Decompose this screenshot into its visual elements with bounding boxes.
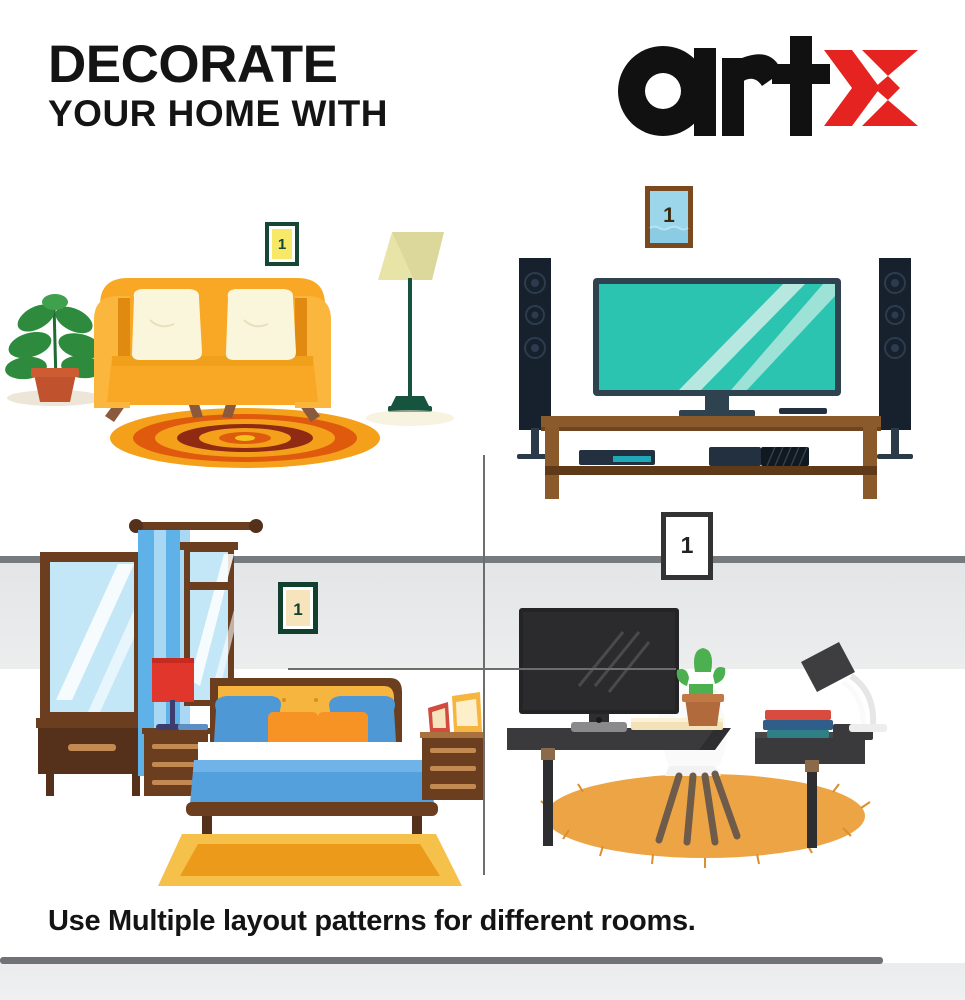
- logo-letter-t: [772, 36, 830, 136]
- living-room-illustration: 1: [0, 170, 483, 500]
- bed: [186, 678, 438, 838]
- wall-frame-living: 1: [265, 222, 299, 266]
- baseboard-bottom: [0, 957, 883, 964]
- nightstand-right: [420, 732, 483, 800]
- floor-bottom: [0, 963, 965, 1000]
- page-title: DECORATE YOUR HOME WITH: [48, 38, 388, 134]
- speaker-right: [877, 258, 913, 459]
- scene-home-office: 1: [483, 500, 965, 890]
- wall-frame-tv: 1: [645, 186, 693, 248]
- tv-stand: [541, 408, 881, 499]
- pillow-orange-right: [318, 712, 368, 746]
- floor-lamp: [366, 232, 454, 426]
- scene-bedroom: 1: [0, 500, 483, 890]
- yellow-sofa: [94, 278, 331, 422]
- wall-frame-bedroom: 1: [278, 582, 318, 634]
- header: DECORATE YOUR HOME WITH: [0, 0, 965, 170]
- potted-plant: [4, 294, 104, 406]
- tv-room-illustration: 1: [483, 170, 965, 500]
- game-console: [709, 447, 809, 466]
- logo-letter-a: [618, 46, 716, 136]
- scene-living-room: 1: [0, 170, 483, 500]
- vertical-divider-line: [483, 455, 485, 875]
- monitor: [519, 608, 679, 732]
- wall-frame-living-label: 1: [278, 236, 286, 253]
- caption-text: Use Multiple layout patterns for differe…: [48, 905, 928, 938]
- headline-line-2: YOUR HOME WITH: [48, 94, 388, 134]
- tv-screen: [593, 278, 841, 417]
- scene-grid: 1: [0, 170, 965, 890]
- poster-root: DECORATE YOUR HOME WITH: [0, 0, 965, 1000]
- wall-frame-office-label: 1: [681, 532, 694, 558]
- logo-letter-x: [824, 50, 918, 126]
- wall-frame-office: 1: [661, 512, 713, 580]
- cream-pillow-left: [132, 289, 202, 360]
- home-office-illustration: 1: [483, 500, 965, 890]
- bedroom-illustration: 1: [0, 500, 483, 890]
- headline-line-1: DECORATE: [48, 38, 388, 92]
- artx-logo: [612, 36, 922, 141]
- round-rug-living: [110, 408, 380, 468]
- artx-logo-mark: [612, 36, 922, 141]
- floor-rug-bedroom: [158, 834, 462, 886]
- cream-pillow-right: [226, 289, 296, 360]
- photo-frames: [428, 692, 482, 732]
- horizontal-divider-line: [288, 668, 676, 670]
- scene-tv-room: 1: [483, 170, 965, 500]
- wall-frame-bedroom-label: 1: [293, 600, 302, 619]
- media-player: [579, 450, 655, 465]
- standing-mirror: [36, 552, 150, 796]
- pillow-orange-left: [268, 712, 318, 746]
- wall-frame-tv-label: 1: [663, 204, 675, 227]
